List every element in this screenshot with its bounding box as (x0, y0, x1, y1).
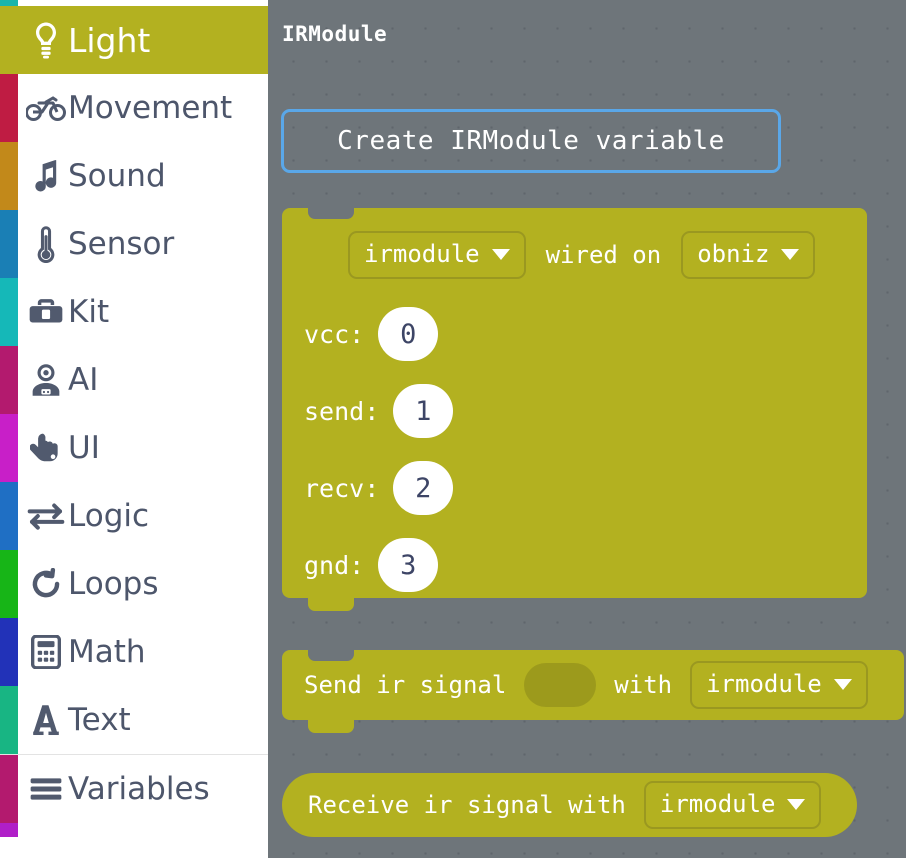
sidebar-item-math[interactable]: Math (0, 618, 268, 686)
dropdown-label: irmodule (364, 242, 480, 266)
sidebar-item-label: Sound (68, 161, 166, 192)
toolbox-icon (24, 290, 68, 334)
block-text-with: with (614, 673, 672, 697)
category-color-strip (0, 142, 18, 210)
block-flyout-workspace[interactable]: IRModule Create IRModule variable irmodu… (268, 0, 906, 858)
chevron-down-icon (492, 249, 510, 260)
sidebar-item-label: Variables (68, 774, 210, 805)
sidebar-item-label: Light (68, 24, 150, 57)
pin-label: send: (304, 399, 379, 424)
category-color-strip (0, 414, 18, 482)
block-irmodule-wired-on[interactable]: irmodule wired on obniz vcc: 0 send: 1 r… (282, 208, 867, 598)
sidebar-item-label: Sensor (68, 229, 174, 260)
sidebar-item-sensor[interactable]: Sensor (0, 210, 268, 278)
dropdown-label: obniz (697, 242, 769, 266)
pin-value-input[interactable]: 1 (393, 384, 453, 438)
sidebar-item-label: Text (68, 705, 131, 736)
pin-row-send: send: 1 (304, 384, 453, 438)
sidebar-item-light[interactable]: Light (0, 6, 268, 74)
category-color-strip (0, 550, 18, 618)
sidebar-item-loops[interactable]: Loops (0, 550, 268, 618)
pin-row-gnd: gnd: 3 (304, 538, 438, 592)
sidebar-item-label: Loops (68, 569, 159, 600)
category-color-strip (0, 278, 18, 346)
block-top-notch (308, 208, 354, 219)
sidebar-item-ai[interactable]: AI (0, 346, 268, 414)
sidebar-item-variables[interactable]: Variables (0, 755, 268, 823)
category-color-strip (0, 74, 18, 142)
calculator-icon (24, 630, 68, 674)
category-color-strip (0, 346, 18, 414)
category-color-strip (0, 210, 18, 278)
dropdown-receive-module[interactable]: irmodule (644, 781, 822, 829)
pointing-hand-icon (24, 426, 68, 470)
dropdown-target-board[interactable]: obniz (681, 231, 815, 279)
dropdown-label: irmodule (660, 792, 776, 816)
music-note-icon (24, 154, 68, 198)
chevron-down-icon (781, 249, 799, 260)
sidebar-item-label: AI (68, 365, 98, 396)
category-color-strip (0, 823, 18, 837)
category-color-strip (0, 618, 18, 686)
pin-row-vcc: vcc: 0 (304, 307, 438, 361)
letter-a-icon (24, 698, 68, 742)
block-text-send-prefix: Send ir signal (304, 673, 506, 697)
create-variable-button-label: Create IRModule variable (337, 126, 725, 156)
pin-row-recv: recv: 2 (304, 461, 453, 515)
block-text-receive-prefix: Receive ir signal with (308, 793, 626, 817)
person-ai-icon (24, 358, 68, 402)
hamburger-lines-icon (24, 767, 68, 811)
category-color-strip (0, 482, 18, 550)
category-color-strip (0, 686, 18, 754)
block-send-ir-signal[interactable]: Send ir signal with irmodule (282, 650, 904, 720)
block-text-wired-on: wired on (546, 243, 662, 267)
sidebar-item-movement[interactable]: Movement (0, 74, 268, 142)
block-bottom-tab (308, 598, 354, 611)
sidebar-item-label: Movement (68, 93, 232, 124)
pin-label: vcc: (304, 322, 364, 347)
thermometer-icon (24, 222, 68, 266)
swap-arrows-icon (24, 494, 68, 538)
sidebar-item-ui[interactable]: UI (0, 414, 268, 482)
pin-label: gnd: (304, 553, 364, 578)
block-header-row: irmodule wired on obniz (348, 231, 815, 279)
sidebar-item-logic[interactable]: Logic (0, 482, 268, 550)
category-color-strip (0, 755, 18, 823)
page-title: IRModule (282, 22, 387, 46)
loop-arrow-icon (24, 562, 68, 606)
lightbulb-icon (24, 18, 68, 62)
pin-label: recv: (304, 476, 379, 501)
chevron-down-icon (834, 679, 852, 690)
blockly-editor: Light Movement (0, 0, 906, 858)
dropdown-send-module[interactable]: irmodule (690, 661, 868, 709)
pin-value-input[interactable]: 3 (378, 538, 438, 592)
category-sidebar[interactable]: Light Movement (0, 0, 268, 858)
pin-value-input[interactable]: 2 (393, 461, 453, 515)
block-content-row: Send ir signal with irmodule (304, 650, 868, 720)
sidebar-item-label: UI (68, 433, 100, 464)
block-receive-ir-signal[interactable]: Receive ir signal with irmodule (282, 773, 857, 837)
block-bottom-tab (308, 720, 354, 733)
sidebar-item-sound[interactable]: Sound (0, 142, 268, 210)
sidebar-partial-item-bottom[interactable] (0, 823, 268, 837)
dropdown-irmodule-name[interactable]: irmodule (348, 231, 526, 279)
chevron-down-icon (787, 799, 805, 810)
pin-value-input[interactable]: 0 (378, 307, 438, 361)
value-socket-empty[interactable] (524, 663, 596, 707)
sidebar-item-kit[interactable]: Kit (0, 278, 268, 346)
motorbike-icon (24, 86, 68, 130)
sidebar-item-text[interactable]: Text (0, 686, 268, 754)
dropdown-label: irmodule (706, 672, 822, 696)
create-variable-button[interactable]: Create IRModule variable (281, 109, 781, 173)
sidebar-item-label: Math (68, 637, 146, 668)
sidebar-item-label: Logic (68, 501, 149, 532)
sidebar-item-label: Kit (68, 297, 109, 328)
